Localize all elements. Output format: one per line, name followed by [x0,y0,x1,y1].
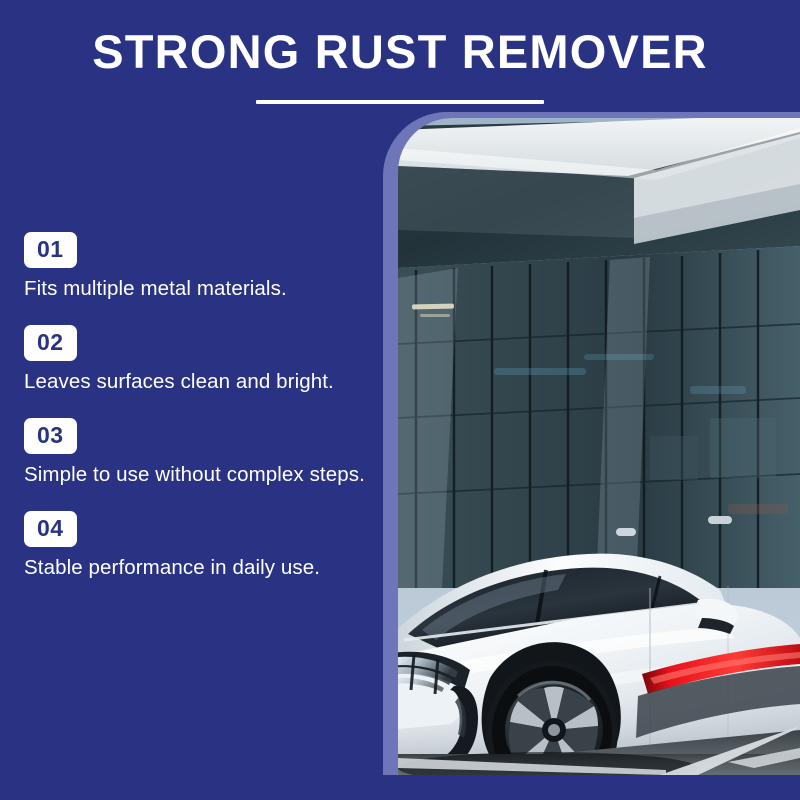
header: STRONG RUST REMOVER [0,22,800,104]
list-item: 03 Simple to use without complex steps. [24,418,374,489]
feature-text: Stable performance in daily use. [24,554,374,582]
feature-number-badge: 01 [24,232,77,268]
list-item: 04 Stable performance in daily use. [24,511,374,582]
feature-number-badge: 04 [24,511,77,547]
feature-text: Simple to use without complex steps. [24,461,374,489]
feature-text: Leaves surfaces clean and bright. [24,368,374,396]
list-item: 01 Fits multiple metal materials. [24,232,374,303]
photo-illustration [398,118,800,775]
poster-root: STRONG RUST REMOVER 01 Fits multiple met… [0,0,800,800]
feature-number-badge: 03 [24,418,77,454]
feature-list: 01 Fits multiple metal materials. 02 Lea… [24,232,374,582]
title-underline-rule [256,100,544,104]
feature-number-badge: 02 [24,325,77,361]
page-title: STRONG RUST REMOVER [0,22,800,82]
product-photo [398,118,800,775]
photo-frame-border [383,112,800,775]
list-item: 02 Leaves surfaces clean and bright. [24,325,374,396]
feature-text: Fits multiple metal materials. [24,275,374,303]
